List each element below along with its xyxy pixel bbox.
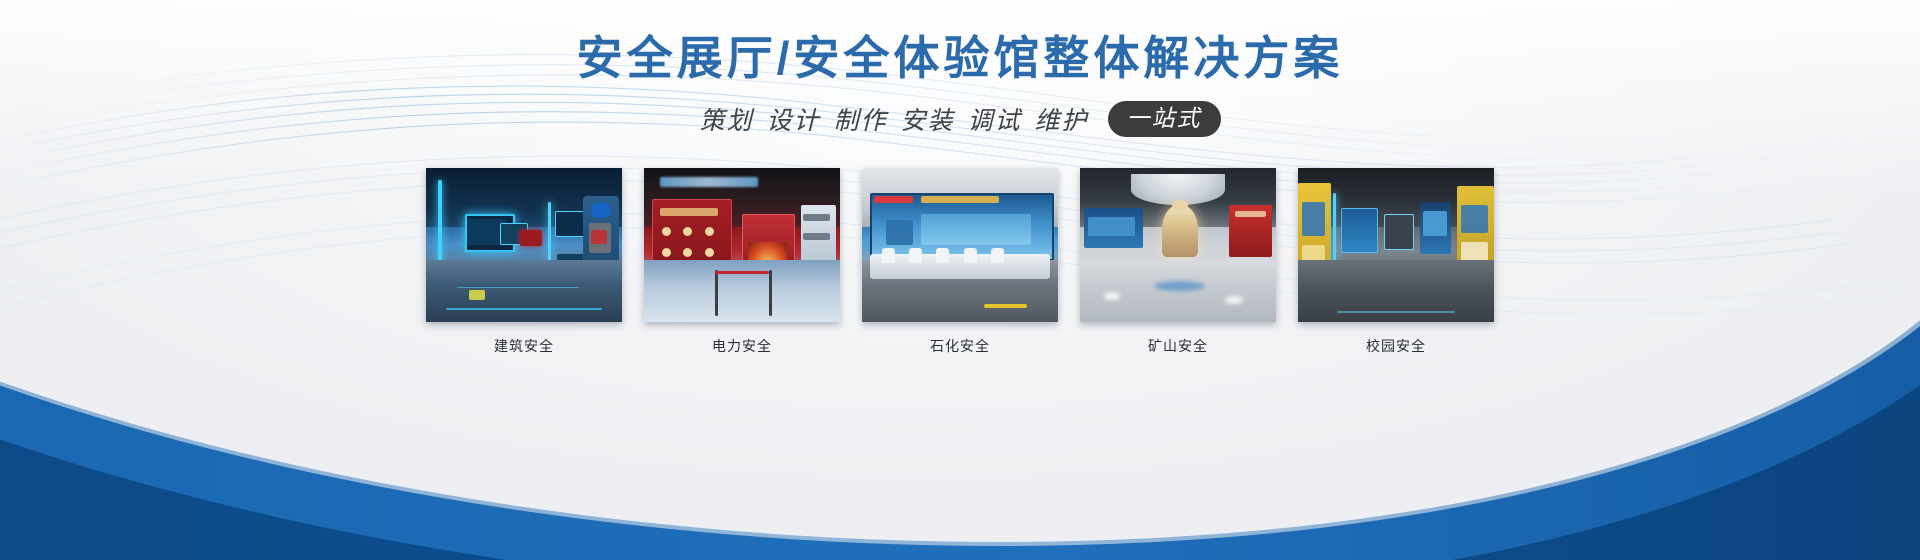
thumbnail-caption-2: 石化安全	[862, 336, 1058, 356]
scene-campus-safety	[1298, 168, 1494, 322]
thumbnail-item-3[interactable]: 矿山安全	[1080, 168, 1276, 356]
one-stop-badge: 一站式	[1108, 101, 1221, 137]
service-step-5: 维护	[1035, 101, 1089, 137]
service-step-3: 安装	[901, 101, 955, 137]
banner-root: 安全展厅/安全体验馆整体解决方案 策划 设计 制作 安装 调试 维护 一站式	[0, 0, 1920, 560]
scene-construction-safety	[426, 168, 622, 322]
thumbnail-caption-4: 校园安全	[1298, 336, 1494, 356]
scene-power-safety	[644, 168, 840, 322]
thumbnail-caption-3: 矿山安全	[1080, 336, 1276, 356]
thumbnail-gallery: 建筑安全	[426, 168, 1494, 356]
thumbnail-item-2[interactable]: 石化安全	[862, 168, 1058, 356]
thumbnail-item-1[interactable]: 电力安全	[644, 168, 840, 356]
service-steps-row: 策划 设计 制作 安装 调试 维护 一站式	[0, 101, 1920, 137]
thumbnail-image-0[interactable]	[426, 168, 622, 322]
scene-mining-safety	[1080, 168, 1276, 322]
service-step-1: 设计	[766, 101, 820, 137]
banner-content: 安全展厅/安全体验馆整体解决方案 策划 设计 制作 安装 调试 维护 一站式	[0, 0, 1920, 560]
service-step-0: 策划	[699, 101, 753, 137]
service-step-4: 调试	[968, 101, 1022, 137]
thumbnail-item-0[interactable]: 建筑安全	[426, 168, 622, 356]
thumbnail-caption-0: 建筑安全	[426, 336, 622, 356]
thumbnail-image-4[interactable]	[1298, 168, 1494, 322]
thumbnail-image-1[interactable]	[644, 168, 840, 322]
thumbnail-image-3[interactable]	[1080, 168, 1276, 322]
thumbnail-caption-1: 电力安全	[644, 336, 840, 356]
thumbnail-item-4[interactable]: 校园安全	[1298, 168, 1494, 356]
page-title: 安全展厅/安全体验馆整体解决方案	[0, 22, 1920, 88]
thumbnail-image-2[interactable]	[862, 168, 1058, 322]
scene-petrochemical-safety	[862, 168, 1058, 322]
service-step-2: 制作	[833, 101, 887, 137]
